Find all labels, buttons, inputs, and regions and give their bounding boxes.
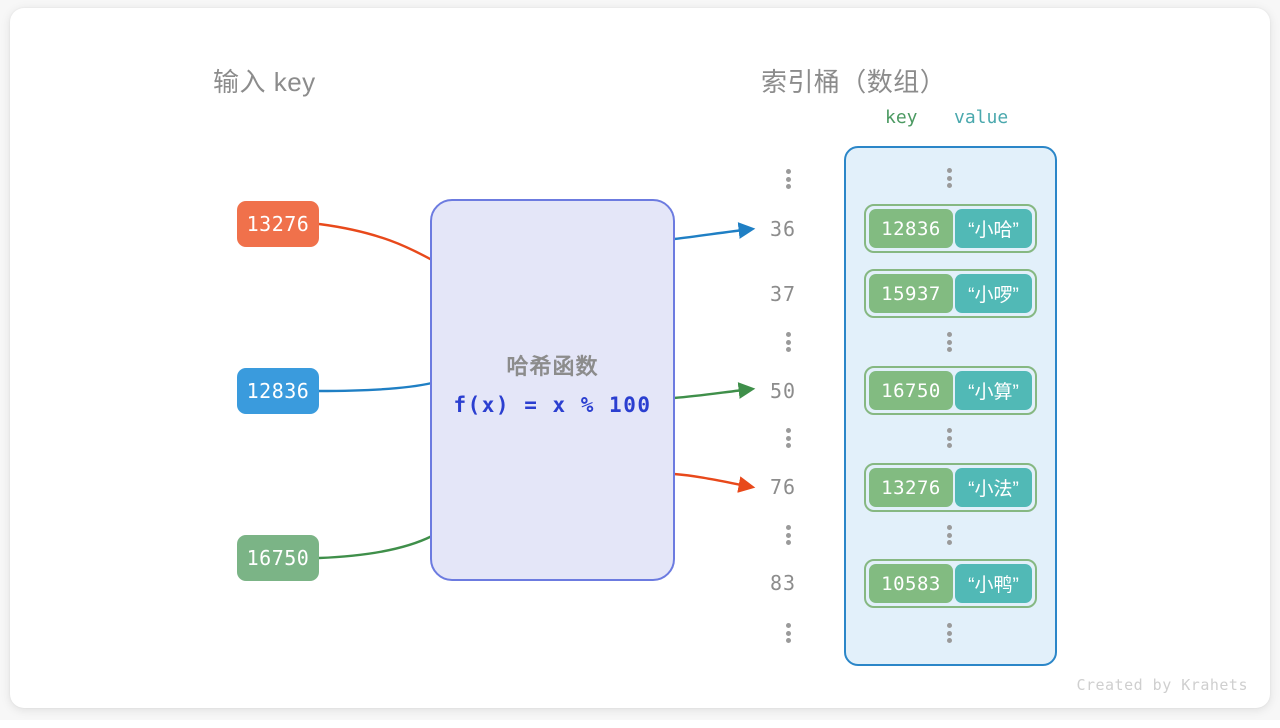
diagram-canvas: 输入 key 索引 桶（数组） key value 13276 12836 16…	[0, 0, 1280, 720]
bucket-entry-key: 15937	[869, 274, 953, 313]
bucket-ellipsis-icon	[946, 332, 952, 352]
index-ellipsis-icon	[785, 623, 791, 643]
wire-12836-left	[319, 383, 432, 391]
heading-input-key: 输入 key	[213, 62, 316, 99]
bucket-entry[interactable]: 15937 “小啰”	[864, 269, 1037, 318]
bucket-ellipsis-icon	[946, 168, 952, 188]
bucket-ellipsis-icon	[946, 525, 952, 545]
wire-16750-right	[674, 389, 752, 398]
bucket-entry[interactable]: 10583 “小鸭”	[864, 559, 1037, 608]
index-label: 36	[770, 217, 812, 241]
subheading-value: value	[954, 107, 1008, 128]
index-label: 37	[770, 282, 812, 306]
bucket-entry-key: 12836	[869, 209, 953, 248]
bucket-entry-key: 10583	[869, 564, 953, 603]
hash-function-formula: f(x) = x % 100	[432, 393, 673, 417]
index-ellipsis-icon	[785, 332, 791, 352]
input-key-chip[interactable]: 13276	[237, 201, 319, 247]
bucket-entry-value: “小法”	[955, 468, 1032, 507]
bucket-entry[interactable]: 13276 “小法”	[864, 463, 1037, 512]
hash-function-title: 哈希函数	[432, 349, 673, 381]
index-ellipsis-icon	[785, 525, 791, 545]
input-key-label: 13276	[247, 212, 310, 236]
bucket-entry-value: “小啰”	[955, 274, 1032, 313]
heading-bucket: 桶（数组）	[814, 62, 947, 99]
bucket-ellipsis-icon	[946, 428, 952, 448]
index-ellipsis-icon	[785, 169, 791, 189]
bucket-entry-value: “小鸭”	[955, 564, 1032, 603]
heading-index: 索引	[761, 62, 814, 99]
input-key-chip[interactable]: 12836	[237, 368, 319, 414]
input-key-chip[interactable]: 16750	[237, 535, 319, 581]
bucket-entry[interactable]: 12836 “小哈”	[864, 204, 1037, 253]
bucket-ellipsis-icon	[946, 623, 952, 643]
wire-13276-left	[319, 224, 432, 260]
bucket-entry[interactable]: 16750 “小算”	[864, 366, 1037, 415]
credit-text: Created by Krahets	[1076, 676, 1248, 694]
wire-13276-right	[674, 474, 752, 487]
bucket-entry-key: 13276	[869, 468, 953, 507]
wire-12836-right	[674, 229, 752, 239]
wire-16750-left	[319, 536, 432, 558]
index-label: 50	[770, 379, 812, 403]
index-label: 83	[770, 571, 812, 595]
hash-function-box: 哈希函数 f(x) = x % 100	[430, 199, 675, 581]
subheading-key: key	[885, 107, 918, 128]
index-ellipsis-icon	[785, 428, 791, 448]
bucket-entry-value: “小哈”	[955, 209, 1032, 248]
diagram-card: 输入 key 索引 桶（数组） key value 13276 12836 16…	[10, 8, 1270, 708]
bucket-entry-key: 16750	[869, 371, 953, 410]
bucket-entry-value: “小算”	[955, 371, 1032, 410]
index-label: 76	[770, 475, 812, 499]
input-key-label: 12836	[247, 379, 310, 403]
input-key-label: 16750	[247, 546, 310, 570]
